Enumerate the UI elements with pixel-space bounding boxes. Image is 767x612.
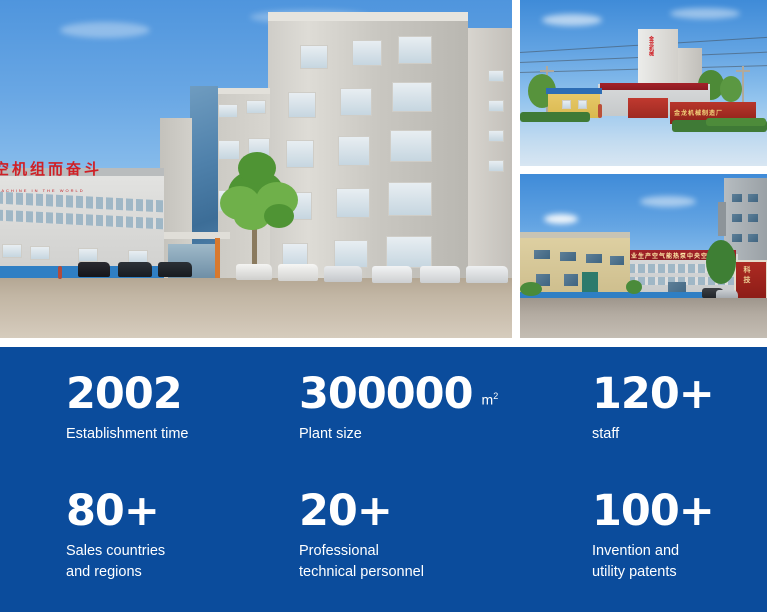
window	[218, 104, 238, 118]
car	[158, 262, 192, 277]
window	[334, 240, 368, 268]
stat-label: staff	[592, 424, 762, 445]
person	[58, 266, 62, 279]
stat-value: 20+	[299, 490, 392, 532]
workshop-banner-text: 专业生产空气能热泵中央空调	[624, 251, 715, 260]
tree	[706, 240, 736, 284]
cornice	[268, 12, 468, 21]
window	[338, 136, 370, 166]
window	[560, 252, 576, 261]
building-far-right	[465, 28, 512, 278]
car	[236, 264, 272, 280]
window	[288, 92, 316, 118]
pole-crossarm	[736, 70, 750, 72]
stat-item-establishment-time: 2002 Establishment time	[66, 373, 276, 445]
window	[390, 130, 432, 162]
stat-label-line2: utility patents	[592, 564, 677, 580]
stat-label: Sales countriesand regions	[66, 541, 281, 583]
guard-house-roof	[546, 88, 602, 94]
shrub	[520, 282, 542, 296]
window	[78, 248, 98, 262]
pole-crossarm	[540, 70, 554, 72]
stat-item-staff: 120+ staff	[592, 373, 762, 445]
photo-main-office-building[interactable]: 空机组而奋斗 MACHINE IN THE WORLD	[0, 0, 512, 338]
window	[578, 100, 587, 109]
cloud	[670, 8, 740, 19]
car	[372, 266, 412, 283]
stat-value-row: 20+	[299, 490, 559, 532]
stat-item-technical-personnel: 20+ Professionaltechnical personnel	[299, 490, 559, 583]
car	[118, 262, 152, 277]
tower-sign: 金龙机械	[648, 36, 655, 56]
photo-gallery: 空机组而奋斗 MACHINE IN THE WORLD	[0, 0, 767, 340]
stat-value: 300000	[299, 373, 473, 415]
window	[352, 40, 382, 66]
stat-value: 2002	[66, 373, 182, 415]
stat-value-row: 80+	[66, 490, 281, 532]
window	[246, 100, 266, 114]
stat-value: 120+	[592, 373, 714, 415]
window	[748, 234, 758, 242]
tree	[720, 76, 742, 102]
stat-value-row: 100+	[592, 490, 767, 532]
about-company-section: 空机组而奋斗 MACHINE IN THE WORLD	[0, 0, 767, 612]
stat-label-line1: Invention and	[592, 543, 679, 559]
cloud	[640, 196, 696, 207]
stat-unit: m2	[482, 391, 499, 408]
window	[732, 234, 742, 242]
chimney	[718, 202, 726, 236]
window	[488, 70, 504, 82]
stat-value-row: 2002	[66, 373, 276, 415]
window	[562, 100, 571, 109]
stat-label-line1: Professional	[299, 543, 379, 559]
stat-value-row: 300000m2	[299, 373, 549, 415]
window	[398, 36, 432, 64]
window	[732, 214, 742, 222]
window	[386, 236, 432, 268]
window	[748, 214, 758, 222]
hedge	[520, 112, 590, 122]
cornice	[210, 88, 270, 94]
car	[78, 262, 110, 277]
window	[336, 188, 370, 218]
roof	[520, 232, 630, 238]
window	[488, 160, 504, 172]
stat-value: 80+	[66, 490, 159, 532]
stat-label: Plant size	[299, 424, 549, 445]
workshop-banner	[600, 83, 708, 90]
window	[392, 82, 432, 112]
tree	[212, 148, 302, 280]
stat-item-plant-size: 300000m2 Plant size	[299, 373, 549, 445]
photo-factory-entrance-gate[interactable]: 金龙机械 金龙机械制造厂	[520, 0, 767, 166]
company-stats-panel: 2002 Establishment time 300000m2 Plant s…	[0, 347, 767, 612]
stats-grid: 2002 Establishment time 300000m2 Plant s…	[0, 347, 767, 612]
stat-item-sales-countries: 80+ Sales countriesand regions	[66, 490, 281, 583]
shrub	[626, 280, 642, 294]
stat-label: Invention andutility patents	[592, 541, 767, 583]
hedge	[706, 118, 766, 126]
cloud	[60, 22, 150, 38]
stat-label-line1: Sales countries	[66, 543, 165, 559]
banner-chinese-text: 空机组而奋斗	[0, 158, 102, 179]
car	[466, 266, 508, 283]
window	[732, 194, 742, 202]
stat-value-row: 120+	[592, 373, 762, 415]
yard-pavement	[520, 298, 767, 338]
stat-label-line2: technical personnel	[299, 564, 424, 580]
gate-sign-text: 金龙机械制造厂	[674, 108, 723, 117]
window	[340, 88, 372, 116]
stat-item-patents: 100+ Invention andutility patents	[592, 490, 767, 583]
cloud	[542, 14, 602, 26]
stat-label: Establishment time	[66, 424, 276, 445]
sign-board-text: 科技	[742, 266, 752, 286]
person	[598, 104, 602, 118]
car	[278, 264, 318, 281]
window	[388, 182, 432, 216]
photo-factory-workshop-yard[interactable]: 专业生产空气能热泵中央空调 科技	[520, 174, 767, 338]
stat-value: 100+	[592, 490, 714, 532]
window	[748, 194, 758, 202]
window	[534, 250, 550, 259]
ground-pavement	[0, 278, 512, 338]
car	[420, 266, 460, 283]
stat-label-line2: and regions	[66, 564, 142, 580]
window	[30, 246, 50, 260]
window	[488, 100, 504, 112]
gate-sign-left	[628, 98, 668, 118]
stat-label: Professionaltechnical personnel	[299, 541, 559, 583]
window	[488, 130, 504, 142]
car	[324, 266, 362, 282]
window	[610, 256, 624, 265]
window	[300, 45, 328, 69]
cloud	[544, 214, 578, 224]
window	[586, 254, 602, 263]
window	[564, 274, 578, 286]
window	[2, 244, 22, 258]
